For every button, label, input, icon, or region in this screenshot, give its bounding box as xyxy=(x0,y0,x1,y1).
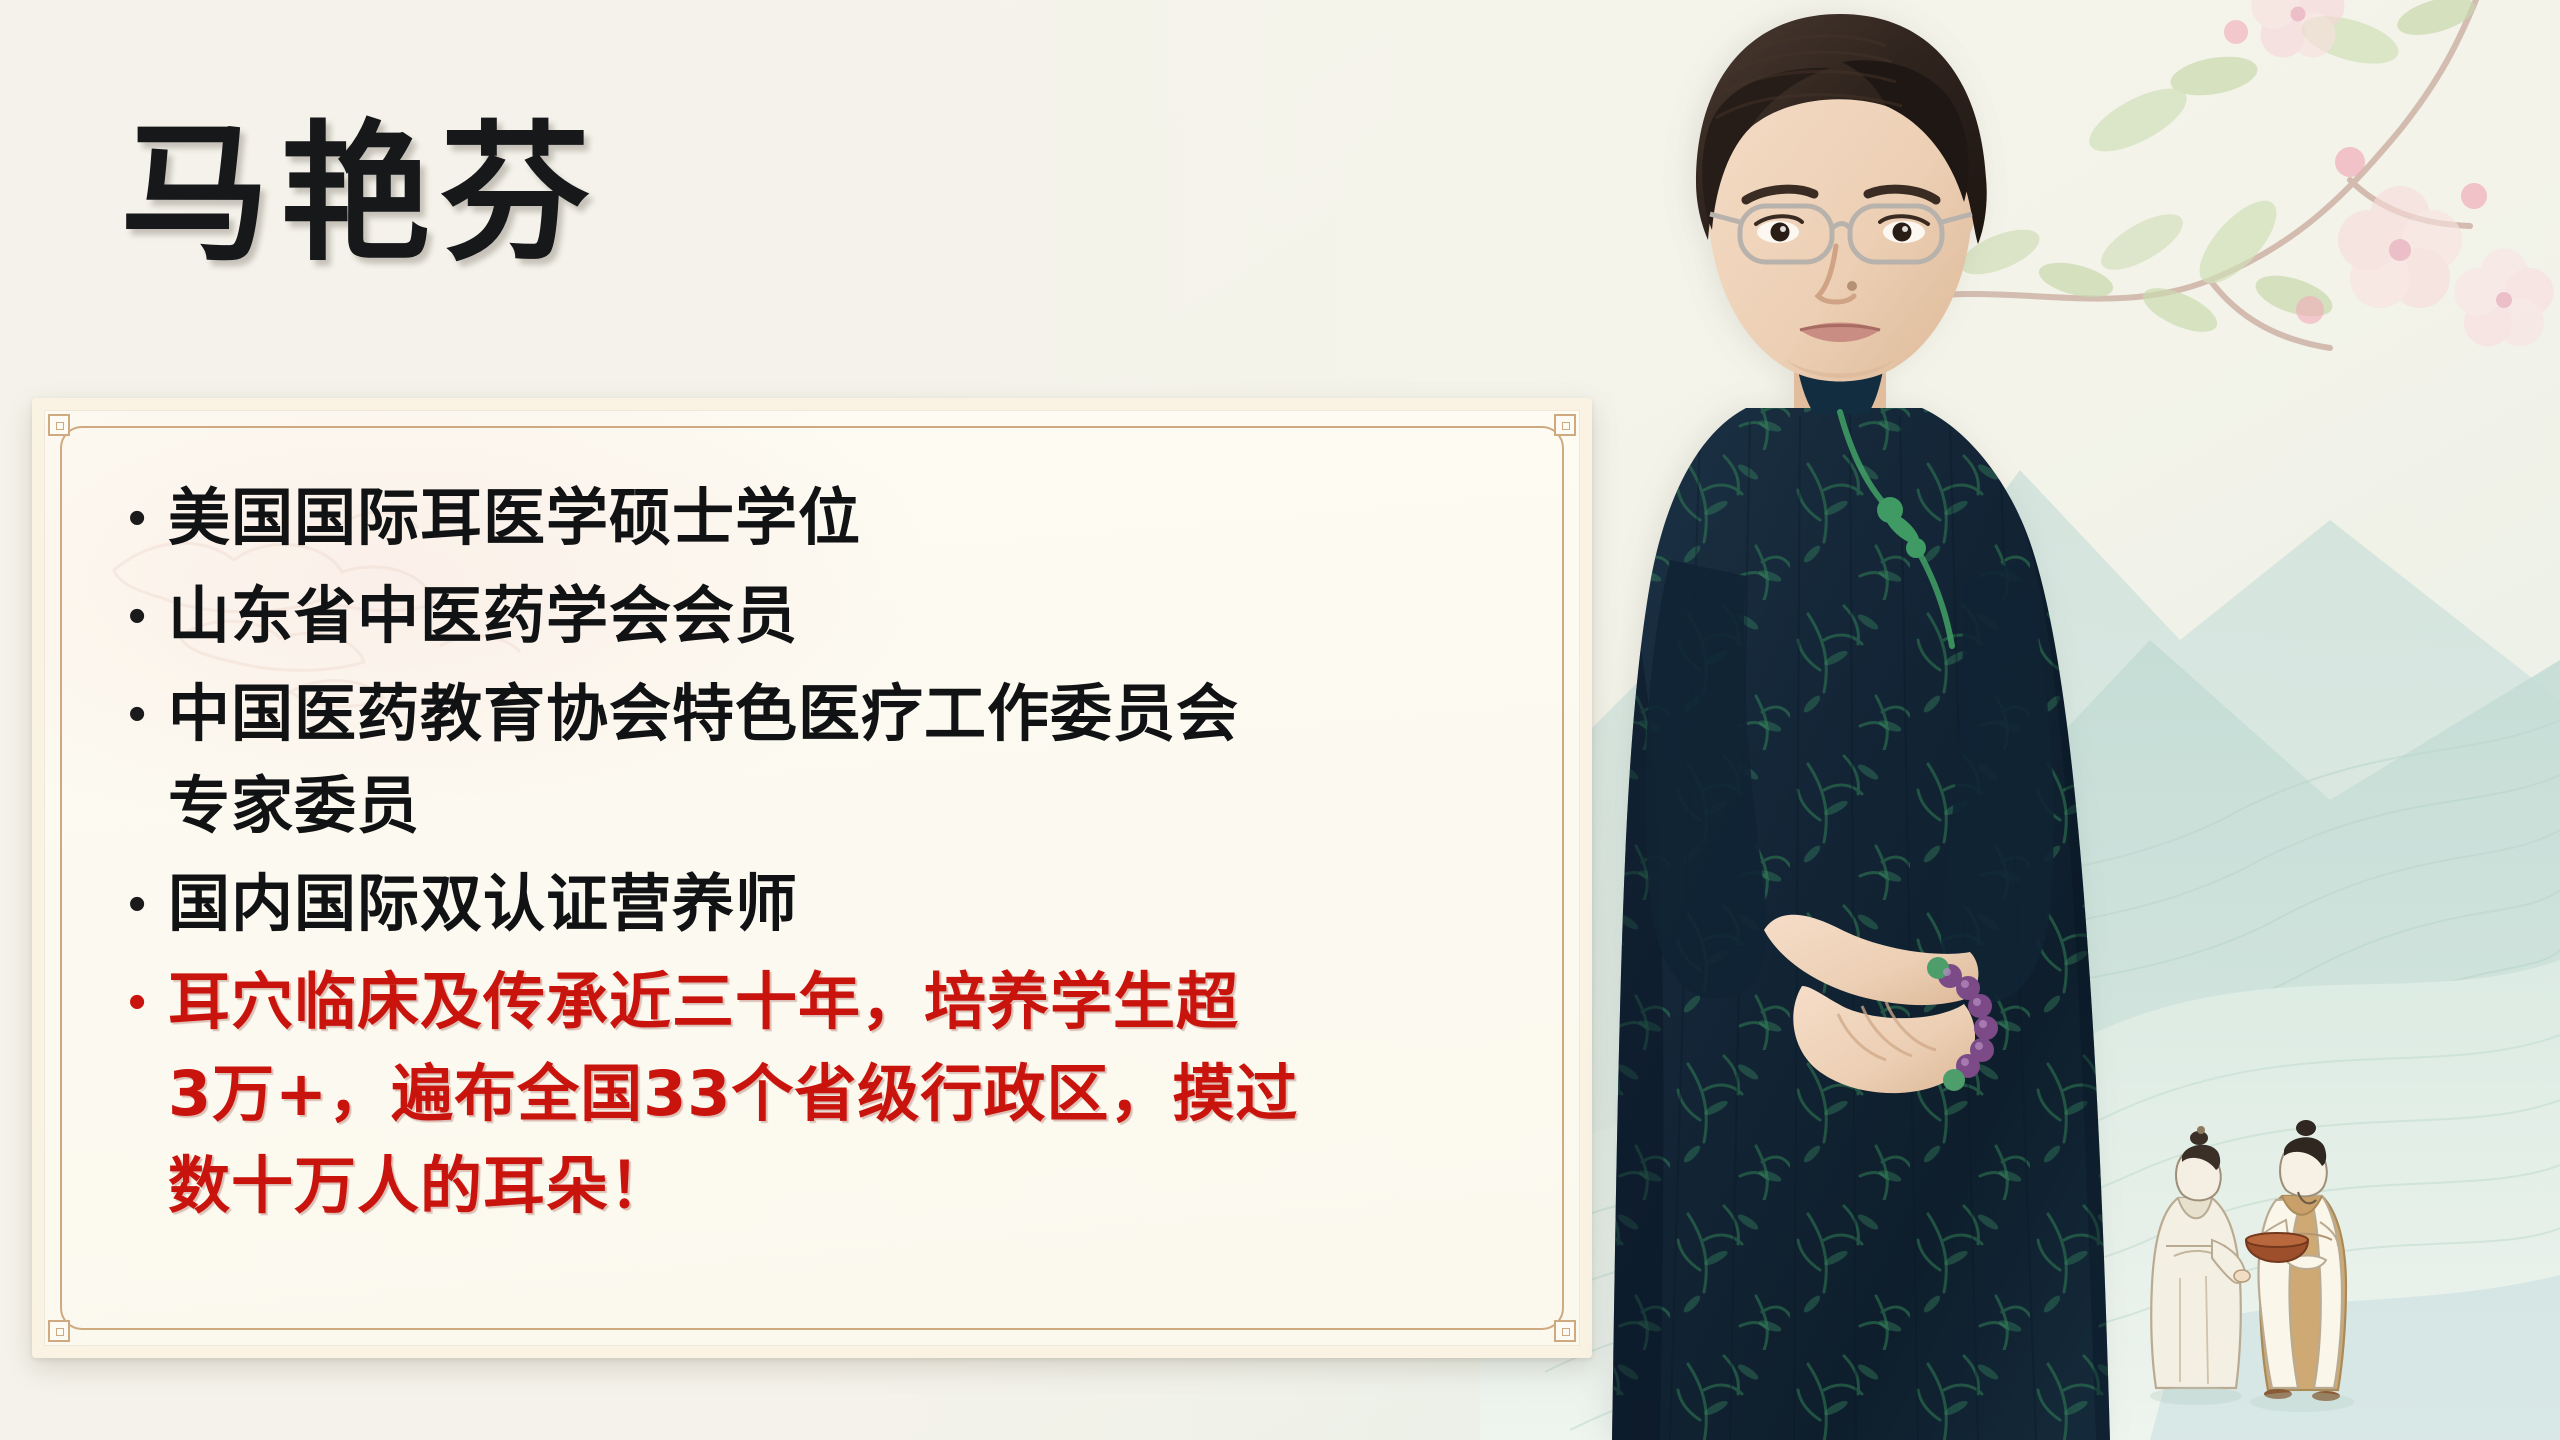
cherry-blossom-branch-icon xyxy=(1880,0,2560,540)
list-item-label: 美国国际耳医学硕士学位 xyxy=(168,472,861,564)
scholar-right xyxy=(2246,1120,2346,1401)
bead-bracelet xyxy=(1927,957,1998,1091)
list-item-label: 中国医药教育协会特色医疗工作委员会 专家委员 xyxy=(168,668,1239,852)
panel-corner-ornament-top-left xyxy=(48,414,70,436)
slide-root: 马艳芬 • 美国国际耳医学硕士学位 • xyxy=(0,0,2560,1440)
list-item-label: 耳穴临床及传承近三十年，培养学生超 3万+，遍布全国33个省级行政区，摸过 数十… xyxy=(168,956,1298,1232)
bullet-dot-icon: • xyxy=(122,858,168,950)
panel-corner-ornament-bottom-right xyxy=(1554,1320,1576,1342)
bullet-dot-icon: • xyxy=(122,570,168,662)
list-item: • 美国国际耳医学硕士学位 xyxy=(122,472,1540,564)
bullet-dot-icon: • xyxy=(122,668,168,760)
head xyxy=(1696,14,1987,382)
credential-list: • 美国国际耳医学硕士学位 • 山东省中医药学会会员 • 中国医药教育协会特色医… xyxy=(122,472,1540,1238)
list-item-label: 国内国际双认证营养师 xyxy=(168,858,798,950)
scholar-left xyxy=(2151,1126,2250,1388)
list-item: • 国内国际双认证营养师 xyxy=(122,858,1540,950)
panel-corner-ornament-top-right xyxy=(1554,414,1576,436)
portrait-of-ma-yanfen xyxy=(1550,0,2190,1440)
two-scholars-illustration xyxy=(2070,1070,2490,1430)
page-title: 马艳芬 xyxy=(120,120,600,270)
list-item-highlighted: • 耳穴临床及传承近三十年，培养学生超 3万+，遍布全国33个省级行政区，摸过 … xyxy=(122,956,1540,1232)
content-panel: • 美国国际耳医学硕士学位 • 山东省中医药学会会员 • 中国医药教育协会特色医… xyxy=(32,398,1592,1358)
list-item: • 山东省中医药学会会员 xyxy=(122,570,1540,662)
panel-corner-ornament-bottom-left xyxy=(48,1320,70,1342)
list-item: • 中国医药教育协会特色医疗工作委员会 专家委员 xyxy=(122,668,1540,852)
bullet-dot-icon: • xyxy=(122,956,168,1048)
glasses-icon xyxy=(1710,206,1972,262)
bullet-dot-icon: • xyxy=(122,472,168,564)
list-item-label: 山东省中医药学会会员 xyxy=(168,570,798,662)
